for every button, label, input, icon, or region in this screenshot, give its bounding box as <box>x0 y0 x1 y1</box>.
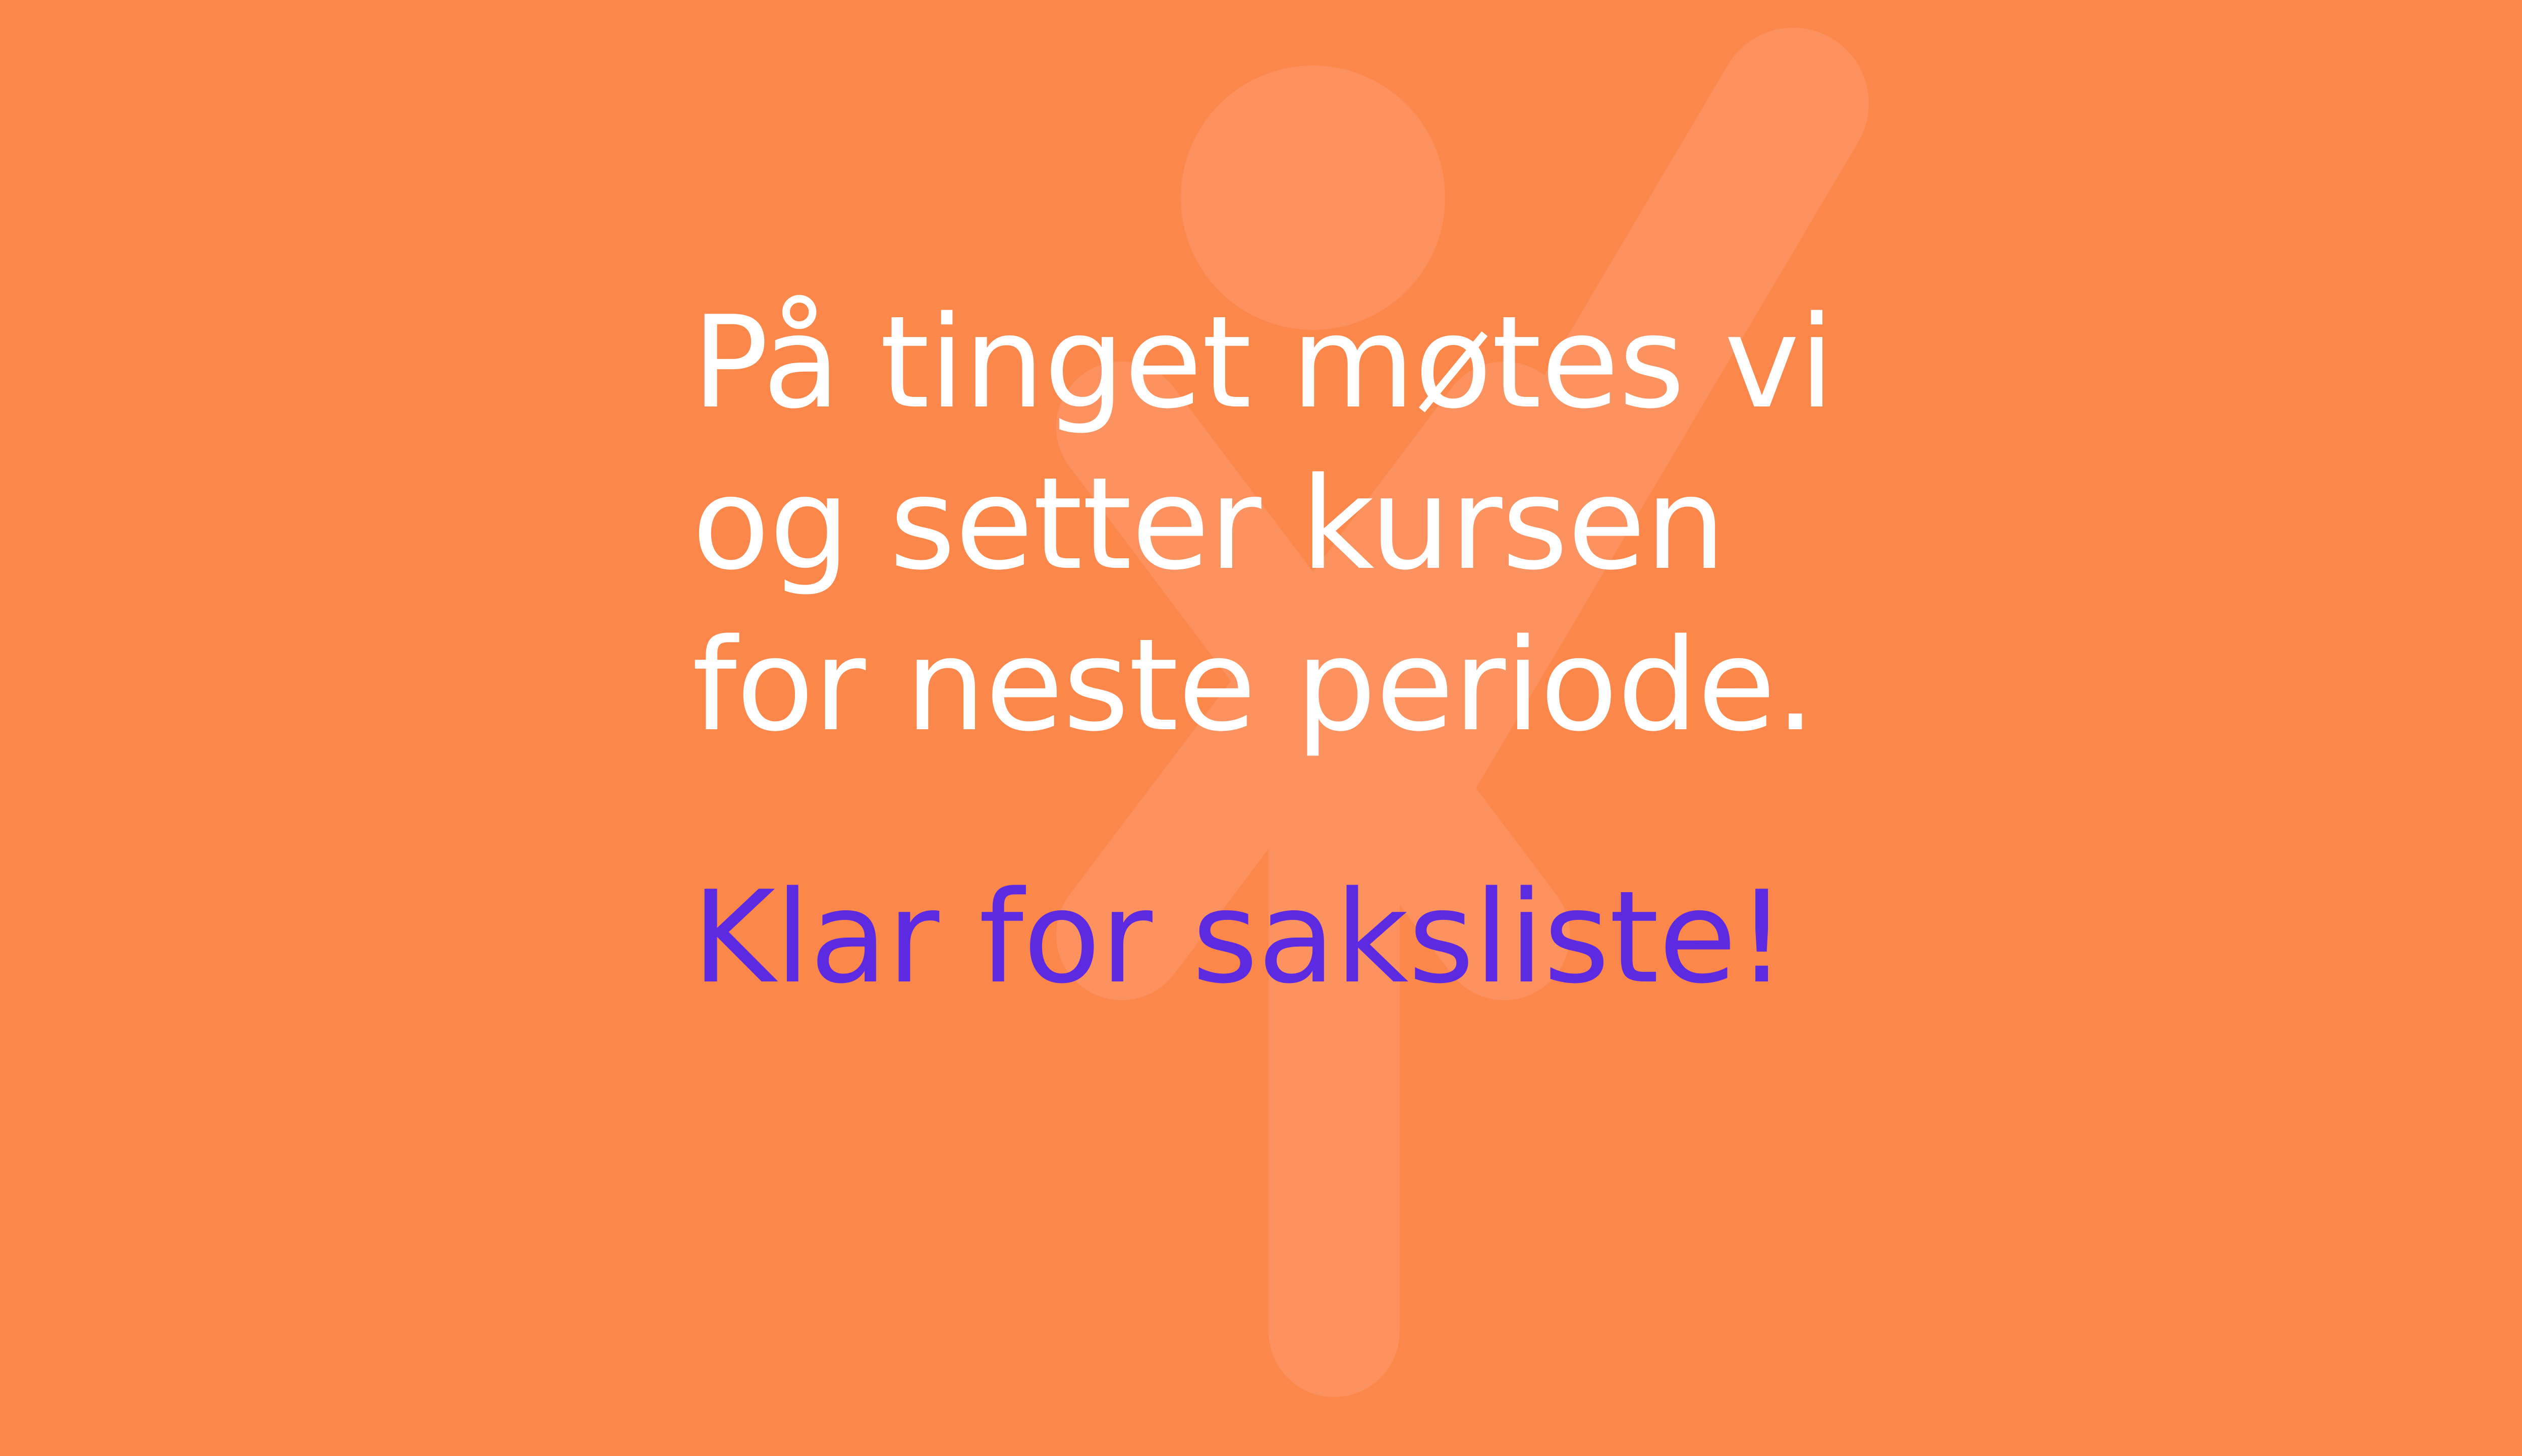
message-line-spacer <box>692 767 1903 857</box>
message-line-3: for neste periode. <box>692 605 1903 767</box>
message-text-block: På tinget møtes vi og setter kursen for … <box>692 282 1903 1019</box>
message-line-1: På tinget møtes vi <box>692 282 1903 444</box>
message-line-accent: Klar for saksliste! <box>692 857 1903 1019</box>
message-line-2: og setter kursen <box>692 444 1903 605</box>
promo-card: På tinget møtes vi og setter kursen for … <box>0 0 2522 1456</box>
